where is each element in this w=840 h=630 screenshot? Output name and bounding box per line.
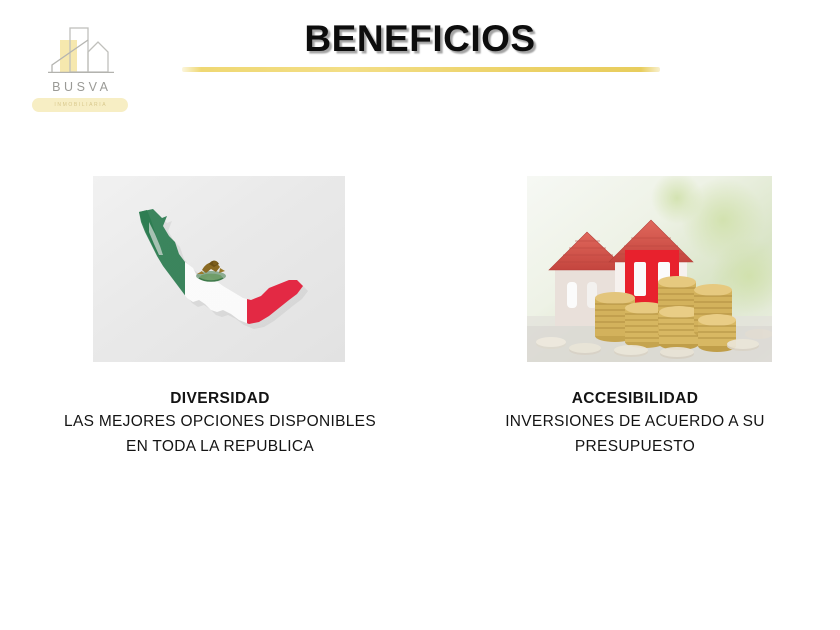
benefit-heading: DIVERSIDAD [10,388,430,409]
benefit-caption-accesibilidad: ACCESIBILIDAD INVERSIONES DE ACUERDO A S… [444,388,826,459]
benefit-heading: ACCESIBILIDAD [444,388,826,409]
benefit-line-1: LAS MEJORES OPCIONES DISPONIBLES [10,409,430,434]
benefit-line-2: PRESUPUESTO [444,434,826,459]
benefit-line-2: EN TODA LA REPUBLICA [10,434,430,459]
title-underline-rule [182,67,660,72]
mexico-flag-map-image [93,176,345,362]
logo-tagline: INMOBILIARIA [32,99,128,111]
logo-wordmark: BUSVA [30,80,130,94]
house-with-coin-stacks-image [527,176,772,362]
page-title: BENEFICIOS [0,18,840,60]
benefit-line-1: INVERSIONES DE ACUERDO A SU [444,409,826,434]
benefit-caption-diversidad: DIVERSIDAD LAS MEJORES OPCIONES DISPONIB… [10,388,430,459]
